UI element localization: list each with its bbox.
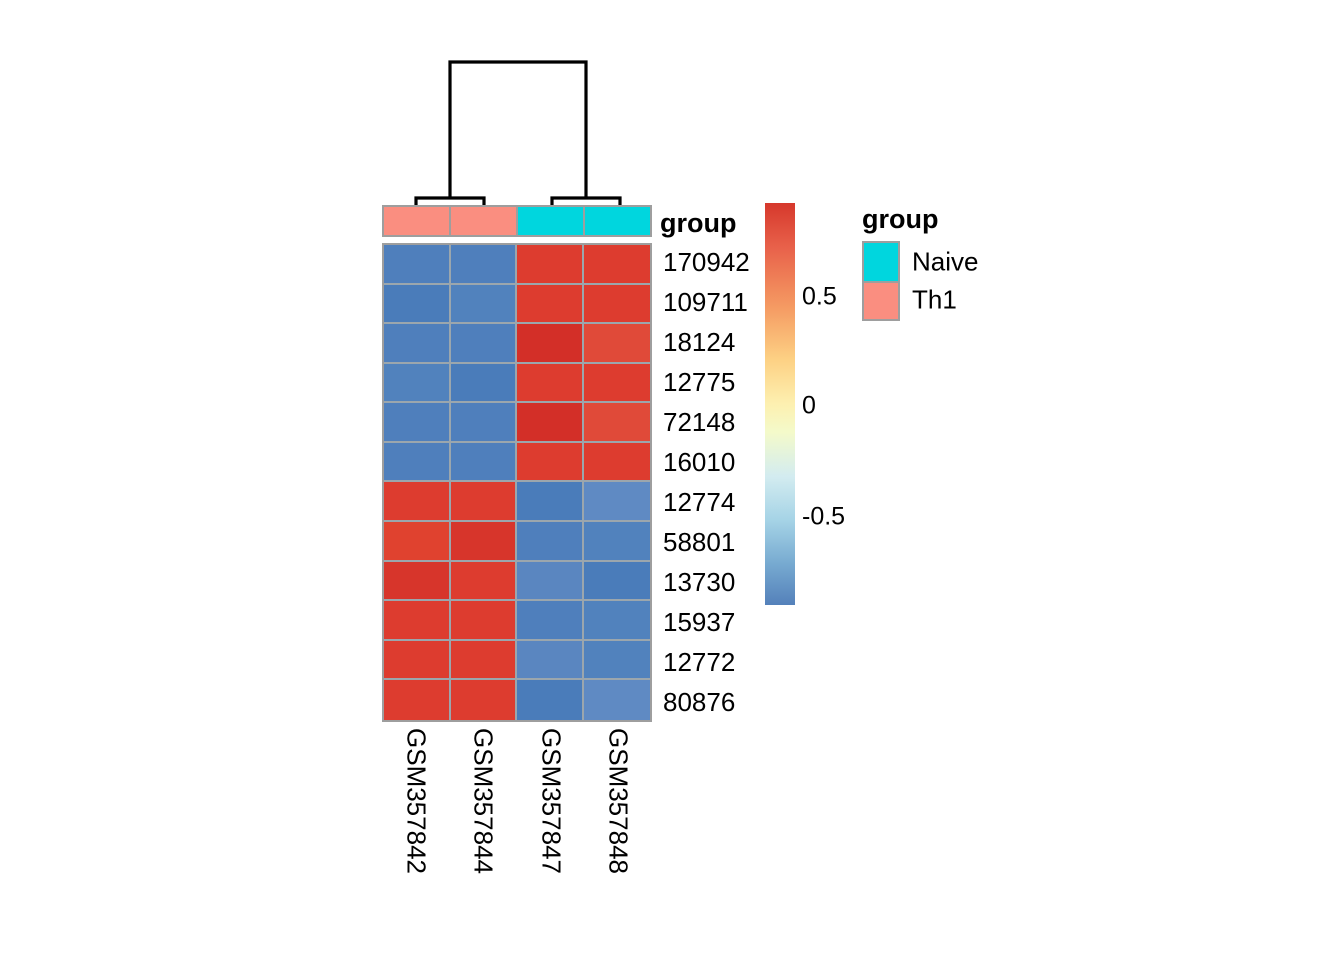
heatmap-cell	[384, 403, 451, 443]
heatmap-cell	[584, 601, 651, 641]
annotation-cell	[585, 207, 650, 235]
heatmap-cell	[384, 482, 451, 522]
heatmap-cell	[384, 680, 451, 720]
column-labels: GSM357842 GSM357844 GSM357847 GSM357848	[382, 728, 652, 898]
heatmap-cell	[384, 245, 451, 285]
group-legend-title: group	[862, 204, 1062, 235]
heatmap-cell	[451, 522, 518, 562]
legend-item-th1: Th1	[864, 281, 898, 319]
heatmap-cell	[517, 601, 584, 641]
heatmap-cell	[517, 482, 584, 522]
colorbar-tick-label: 0	[802, 392, 816, 421]
heatmap-cell	[384, 641, 451, 681]
heatmap-cell	[384, 285, 451, 325]
heatmap-cell	[517, 324, 584, 364]
heatmap-cell	[517, 403, 584, 443]
heatmap-cell	[584, 285, 651, 325]
column-dendrogram	[382, 58, 654, 206]
heatmap-cell	[451, 562, 518, 602]
heatmap-cell	[451, 285, 518, 325]
heatmap-cell	[584, 245, 651, 285]
heatmap-cell	[517, 364, 584, 404]
column-label-slot: GSM357842	[382, 728, 450, 898]
heatmap-cell	[451, 482, 518, 522]
annotation-title: group	[660, 208, 736, 239]
heatmap-cell	[384, 522, 451, 562]
heatmap-cell	[584, 324, 651, 364]
heatmap-cell	[517, 285, 584, 325]
legend-swatch-naive	[864, 243, 898, 281]
column-label-slot: GSM357848	[585, 728, 653, 898]
legend-item-naive: Naive	[864, 243, 898, 281]
heatmap-cell	[584, 364, 651, 404]
heatmap-cell	[451, 403, 518, 443]
legend-swatch-th1	[864, 281, 898, 319]
column-label: GSM357844	[468, 728, 499, 874]
heatmap-cell	[517, 443, 584, 483]
heatmap-cell	[384, 364, 451, 404]
row-label: 12772	[663, 642, 803, 682]
heatmap-cell	[517, 680, 584, 720]
heatmap-cell	[517, 562, 584, 602]
heatmap-cell	[517, 641, 584, 681]
heatmap-cell	[384, 324, 451, 364]
group-legend: group Naive Th1	[862, 204, 1062, 321]
group-legend-keys: Naive Th1	[862, 241, 900, 321]
heatmap-cell	[451, 245, 518, 285]
heatmap-cell	[384, 562, 451, 602]
heatmap-cell	[451, 324, 518, 364]
legend-label-th1: Th1	[912, 285, 957, 316]
column-label: GSM357847	[535, 728, 566, 874]
heatmap-grid	[382, 243, 652, 722]
heatmap-cell	[517, 522, 584, 562]
heatmap-cell	[384, 601, 451, 641]
heatmap-cell	[584, 522, 651, 562]
heatmap-cell	[451, 601, 518, 641]
colorbar	[765, 203, 795, 605]
heatmap-cell	[517, 245, 584, 285]
column-label-slot: GSM357847	[517, 728, 585, 898]
colorbar-tick-label: 0.5	[802, 283, 837, 312]
row-label: 80876	[663, 682, 803, 722]
heatmap-cell	[451, 680, 518, 720]
heatmap-cell	[384, 443, 451, 483]
heatmap-cell	[584, 641, 651, 681]
colorbar-tick-label: -0.5	[802, 503, 845, 532]
column-label: GSM357842	[400, 728, 431, 874]
row-label: 15937	[663, 602, 803, 642]
heatmap-cell	[451, 641, 518, 681]
annotation-cell	[384, 207, 451, 235]
heatmap-cell	[584, 403, 651, 443]
column-label: GSM357848	[603, 728, 634, 874]
column-annotation-bar	[382, 205, 652, 237]
legend-label-naive: Naive	[912, 247, 978, 278]
annotation-cell	[518, 207, 585, 235]
heatmap-cell	[584, 680, 651, 720]
heatmap-cell	[451, 364, 518, 404]
heatmap-cell	[451, 443, 518, 483]
annotation-cell	[451, 207, 518, 235]
heatmap-cell	[584, 443, 651, 483]
heatmap-cell	[584, 482, 651, 522]
heatmap-figure: group	[0, 0, 1344, 960]
column-label-slot: GSM357844	[450, 728, 518, 898]
heatmap-cell	[584, 562, 651, 602]
